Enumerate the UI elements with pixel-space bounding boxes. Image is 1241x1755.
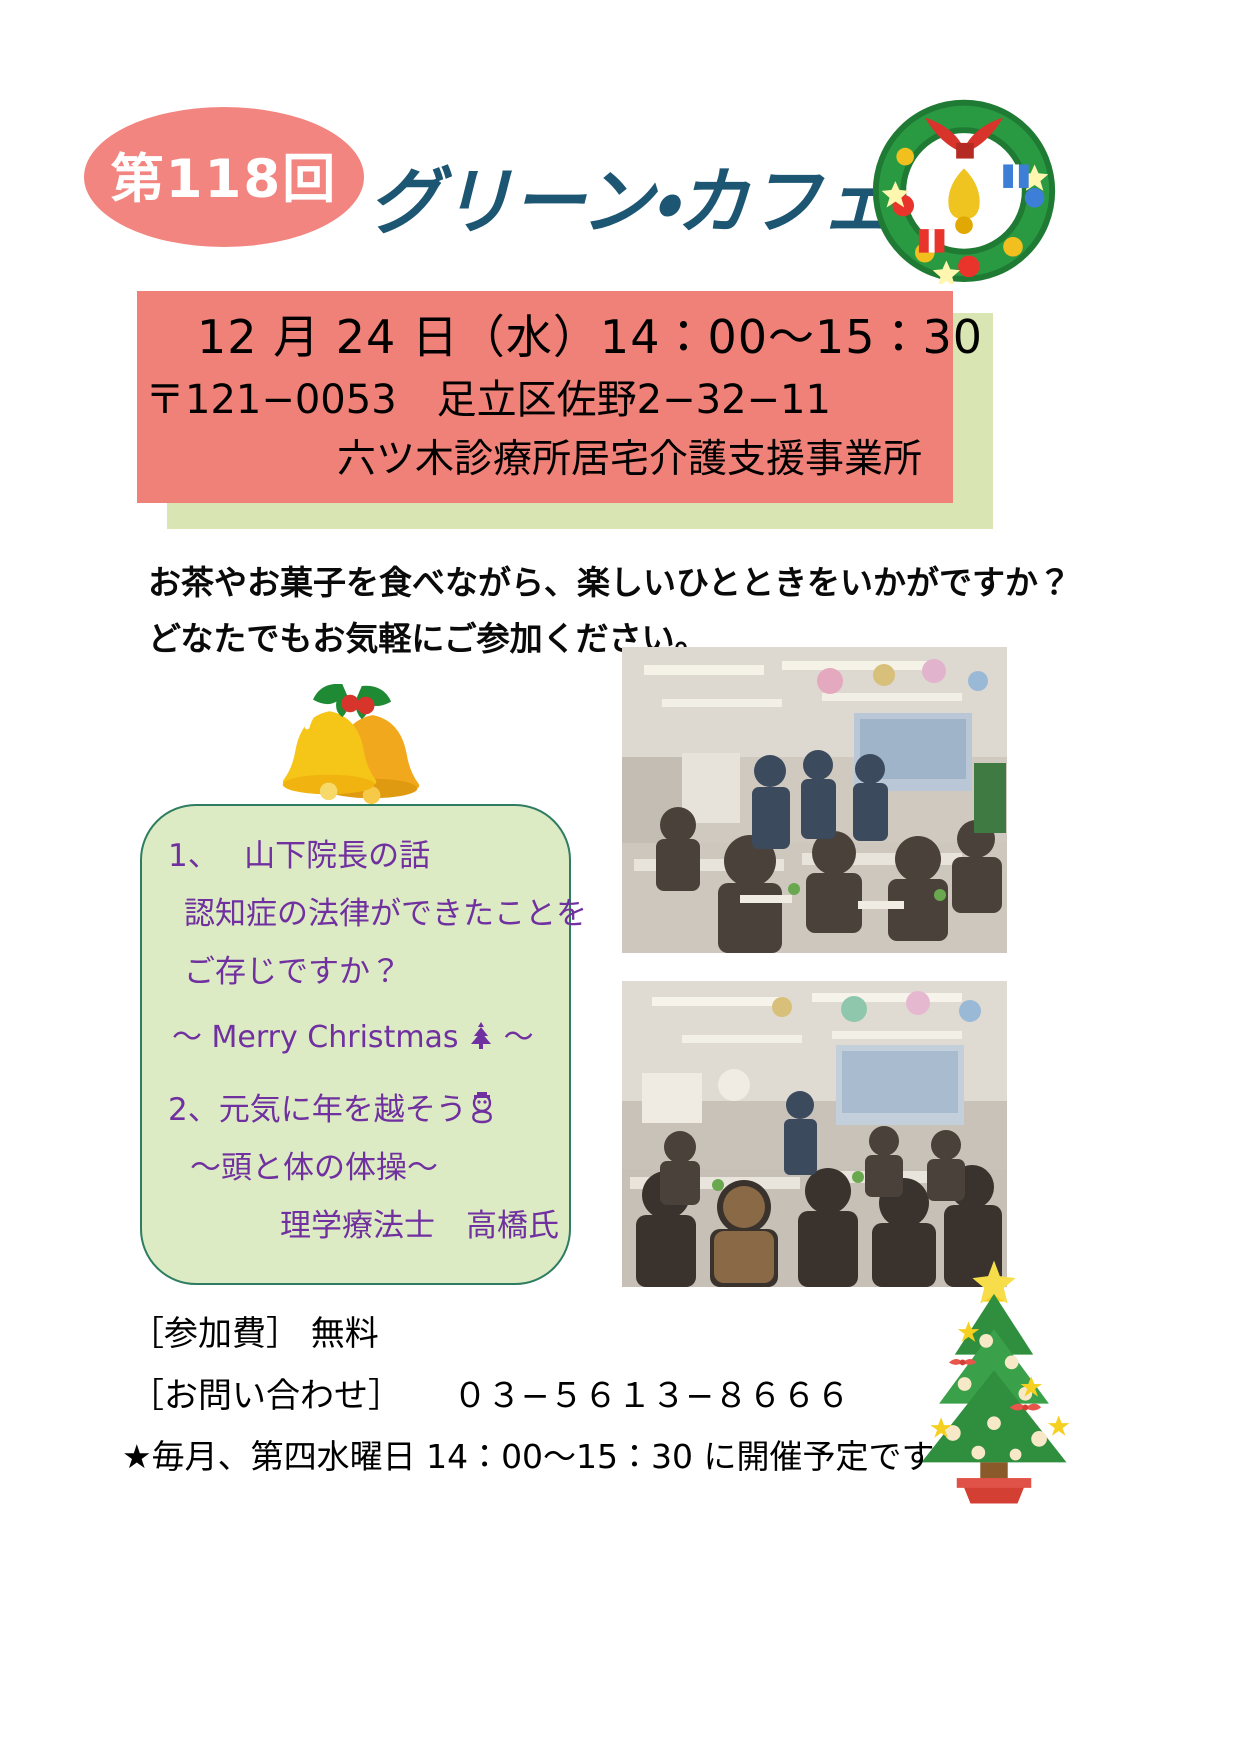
tree-glyph-icon <box>468 1021 494 1051</box>
program-item-1-detail-1: 認知症の法律ができたことを <box>184 888 587 933</box>
program-box: 1、 山下院長の話 認知症の法律ができたことを ご存じですか？ 〜 Merry … <box>140 804 571 1285</box>
flyer-page: 第118回 グリーン・カフェ <box>0 0 1241 1755</box>
greeting-suffix: 〜 <box>494 1020 534 1055</box>
participation-fee: ［参加費］ 無料 <box>130 1306 379 1355</box>
program-item-2-presenter: 理学療法士 高橋氏 <box>280 1200 559 1245</box>
christmas-bells-icon <box>256 684 452 806</box>
program-item-2-title: 2、元気に年を越そう <box>168 1084 497 1129</box>
event-info-box: 12 月 24 日（水）14：00〜15：30 〒121−0053 足立区佐野2… <box>137 291 953 503</box>
program-item-2-label: 2、元気に年を越そう <box>168 1092 467 1128</box>
program-item-2-detail: 〜頭と体の体操〜 <box>190 1142 438 1187</box>
page-title: グリーン・カフェ <box>368 143 892 249</box>
meeting-room-photo-1 <box>622 647 1007 953</box>
event-address: 〒121−0053 足立区佐野2−32−11 <box>145 367 831 425</box>
program-item-1-detail-2: ご存じですか？ <box>184 946 401 991</box>
flyer-header: 第118回 グリーン・カフェ <box>0 0 1241 300</box>
edition-badge: 第118回 <box>84 107 364 247</box>
invitation-line-1: お茶やお菓子を食べながら、楽しいひとときをいかがですか？ <box>148 556 1071 604</box>
greeting-prefix: 〜 Merry Christmas <box>172 1020 468 1055</box>
contact-info: ［お問い合わせ］ ０３−５６１３−８６６６ <box>130 1368 850 1417</box>
merry-christmas-greeting: 〜 Merry Christmas 〜 <box>172 1012 534 1056</box>
program-item-1-title: 1、 山下院長の話 <box>168 830 430 875</box>
christmas-wreath-icon <box>866 88 1062 284</box>
recurring-schedule: ★毎月、第四水曜日 14：00〜15：30 に開催予定です <box>122 1430 935 1478</box>
meeting-room-photo-2 <box>622 981 1007 1287</box>
edition-badge-label: 第118回 <box>111 137 338 213</box>
event-datetime: 12 月 24 日（水）14：00〜15：30 <box>197 301 983 367</box>
event-organization: 六ツ木診療所居宅介護支援事業所 <box>337 428 922 484</box>
snowman-glyph-icon <box>467 1092 497 1124</box>
